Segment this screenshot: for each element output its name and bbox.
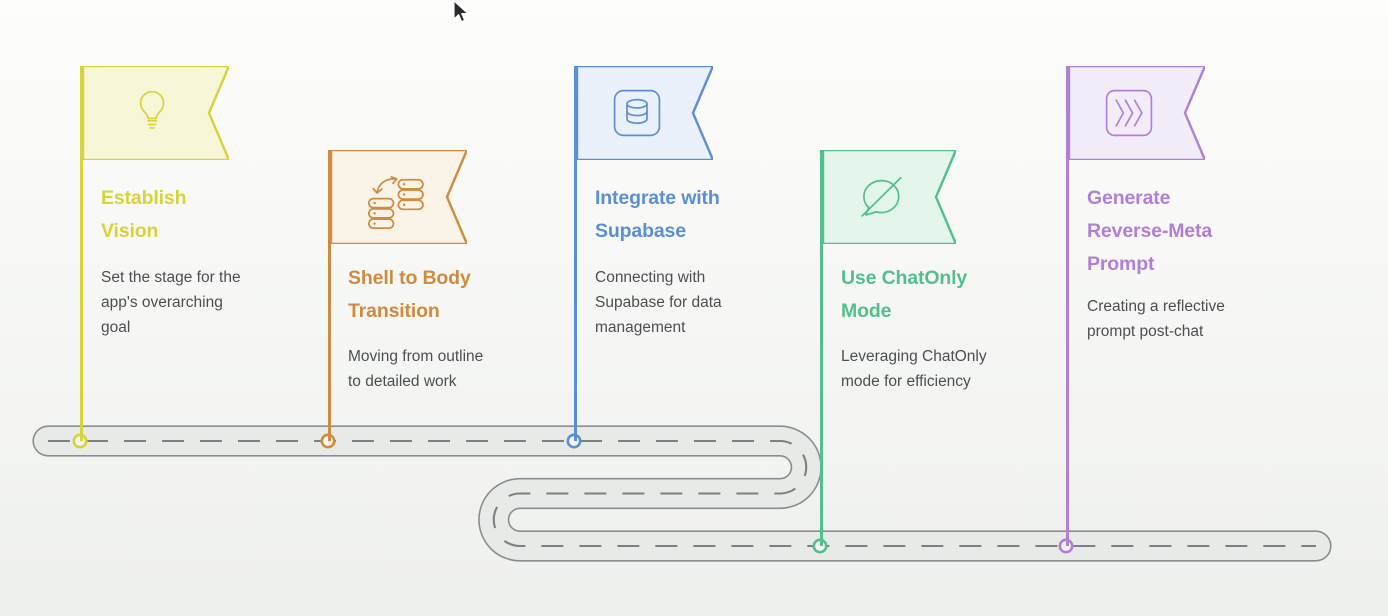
milestone-description-use-chatonly-mode: Leveraging ChatOnly mode for efficiency (841, 344, 987, 394)
milestone-description-integrate-with-supabase: Connecting with Supabase for data manage… (595, 265, 722, 340)
milestone-flag-generate-reverse-meta-prompt[interactable] (1069, 66, 1205, 160)
flag-banner-shape (83, 66, 229, 160)
milestone-description-establish-vision: Set the stage for the app's overarching … (101, 265, 241, 340)
road-surface (48, 441, 1316, 546)
milestone-description-shell-to-body-transition: Moving from outline to detailed work (348, 344, 483, 394)
milestone-title-shell-to-body-transition: Shell to Body Transition (348, 262, 471, 328)
milestone-title-establish-vision: Establish Vision (101, 182, 186, 248)
milestone-description-generate-reverse-meta-prompt: Creating a reflective prompt post-chat (1087, 294, 1225, 344)
milestone-flag-integrate-with-supabase[interactable] (577, 66, 713, 160)
flag-banner-shape (1069, 66, 1205, 160)
roadmap-diagram-canvas: Establish VisionSet the stage for the ap… (0, 0, 1388, 616)
milestone-flag-shell-to-body-transition[interactable] (331, 150, 467, 244)
milestone-title-use-chatonly-mode: Use ChatOnly Mode (841, 262, 967, 328)
milestone-flag-use-chatonly-mode[interactable] (823, 150, 956, 244)
milestone-title-generate-reverse-meta-prompt: Generate Reverse-Meta Prompt (1087, 182, 1212, 280)
milestone-flag-establish-vision[interactable] (83, 66, 229, 160)
milestone-title-integrate-with-supabase: Integrate with Supabase (595, 182, 720, 248)
flag-banner-shape (823, 150, 956, 244)
